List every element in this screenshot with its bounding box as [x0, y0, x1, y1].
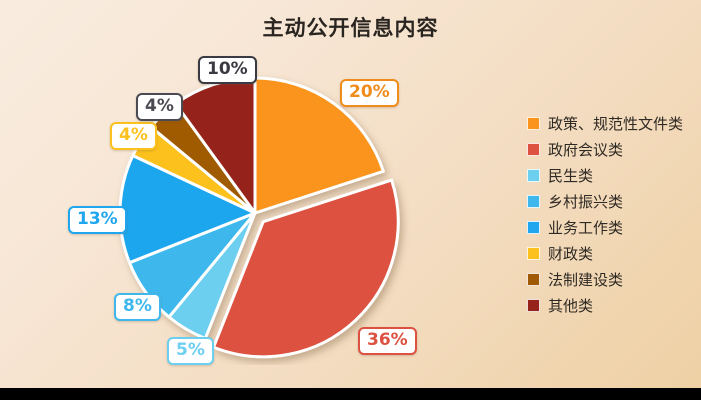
legend-item-label: 政府会议类	[548, 139, 623, 160]
pie-data-label: 20%	[340, 79, 399, 107]
legend-item[interactable]: 乡村振兴类	[527, 188, 692, 214]
pie-data-label: 4%	[136, 93, 183, 121]
legend-item[interactable]: 政策、规范性文件类	[527, 110, 692, 136]
chart-legend: 政策、规范性文件类政府会议类民生类乡村振兴类业务工作类财政类法制建设类其他类	[527, 110, 692, 318]
pie-data-label: 8%	[114, 293, 161, 321]
legend-swatch-icon	[527, 247, 540, 260]
legend-swatch-icon	[527, 169, 540, 182]
legend-item[interactable]: 其他类	[527, 292, 692, 318]
bottom-bar	[0, 388, 701, 400]
legend-item[interactable]: 民生类	[527, 162, 692, 188]
legend-swatch-icon	[527, 143, 540, 156]
legend-swatch-icon	[527, 273, 540, 286]
pie-data-label: 5%	[167, 337, 214, 365]
legend-swatch-icon	[527, 195, 540, 208]
legend-swatch-icon	[527, 221, 540, 234]
pie-data-label: 13%	[68, 206, 127, 234]
legend-swatch-icon	[527, 299, 540, 312]
legend-item[interactable]: 财政类	[527, 240, 692, 266]
legend-item-label: 乡村振兴类	[548, 191, 623, 212]
page-title: 主动公开信息内容	[0, 12, 701, 42]
legend-item-label: 民生类	[548, 165, 593, 186]
chart-canvas: 主动公开信息内容 20%36%5%8%13%4%4%10% 政策、规范性文件类政…	[0, 0, 701, 400]
legend-swatch-icon	[527, 117, 540, 130]
legend-item-label: 法制建设类	[548, 269, 623, 290]
pie-data-label: 36%	[358, 327, 417, 355]
legend-item[interactable]: 法制建设类	[527, 266, 692, 292]
legend-item[interactable]: 政府会议类	[527, 136, 692, 162]
pie-data-label: 4%	[110, 122, 157, 150]
legend-item-label: 政策、规范性文件类	[548, 113, 683, 134]
pie-data-label: 10%	[198, 56, 257, 84]
legend-item-label: 其他类	[548, 295, 593, 316]
legend-item[interactable]: 业务工作类	[527, 214, 692, 240]
legend-item-label: 财政类	[548, 243, 593, 264]
legend-item-label: 业务工作类	[548, 217, 623, 238]
